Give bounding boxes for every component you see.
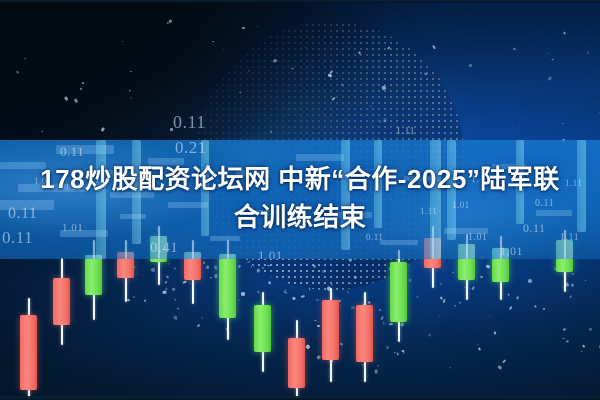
floating-number: 1.11 — [396, 126, 415, 137]
candlestick-body — [219, 254, 236, 318]
candlestick-down — [20, 298, 37, 400]
particle-dot — [351, 306, 355, 309]
candlestick-body — [322, 300, 339, 360]
ghost-candle-wick — [125, 240, 127, 259]
particle-dot — [172, 287, 176, 290]
particle-dot — [130, 71, 132, 72]
floating-number: 1.01 — [500, 244, 523, 259]
particle-dot — [346, 290, 349, 293]
candlestick-up — [254, 292, 271, 372]
particle-dot — [174, 267, 175, 269]
ghost-candle-wick — [93, 240, 95, 259]
ghost-candle-wick — [61, 258, 63, 259]
particle-dot — [261, 267, 265, 269]
particle-dot — [203, 261, 205, 264]
candlestick-up — [390, 250, 407, 342]
candlestick-body — [288, 338, 305, 388]
candlestick-body — [53, 278, 70, 325]
particle-dot — [163, 291, 167, 294]
floating-number: 1.01 — [258, 248, 283, 259]
candlestick-body — [356, 305, 373, 362]
floating-number: 0.21 — [175, 138, 207, 158]
headline-line-1: 178炒股配资论坛网 中新“合作-2025”陆军联 — [40, 164, 560, 194]
candlestick-down — [53, 258, 70, 345]
top-edge-line — [0, 0, 600, 3]
ghost-candle-wick — [227, 240, 229, 259]
particle-dot — [377, 364, 379, 366]
banner-image: 0.111.010.210.111.010.111.010.411.011.11… — [0, 0, 600, 400]
candlestick-down — [288, 320, 305, 400]
particle-dot — [130, 96, 133, 98]
particle-dot — [292, 67, 294, 68]
ghost-candle-wick — [192, 240, 194, 259]
particle-dot — [308, 287, 310, 290]
candlestick-body — [390, 262, 407, 322]
band-data-bar — [210, 236, 240, 241]
candlestick-down — [356, 292, 373, 382]
particle-dot — [383, 118, 386, 122]
particle-dot — [82, 82, 84, 84]
particle-dot — [374, 369, 378, 373]
candlestick-down — [322, 288, 339, 382]
candlestick-body — [254, 305, 271, 352]
ghost-candle-wick — [398, 250, 400, 259]
floating-number: 0.41 — [150, 240, 178, 257]
particle-dot — [382, 321, 384, 324]
particle-dot — [353, 275, 357, 279]
bottom-edge-line — [0, 396, 600, 400]
floating-number: 0.11 — [60, 144, 84, 160]
floating-number: 0.11 — [173, 112, 206, 133]
band-data-bar — [380, 240, 418, 245]
particle-dot — [543, 308, 545, 310]
page-title: 178炒股配资论坛网 中新“合作-2025”陆军联 合训练结束 — [0, 160, 600, 236]
particle-dot — [585, 280, 586, 281]
headline-line-2: 合训练结束 — [14, 198, 586, 236]
candlestick-body — [20, 315, 37, 390]
candlestick-body — [85, 255, 102, 295]
